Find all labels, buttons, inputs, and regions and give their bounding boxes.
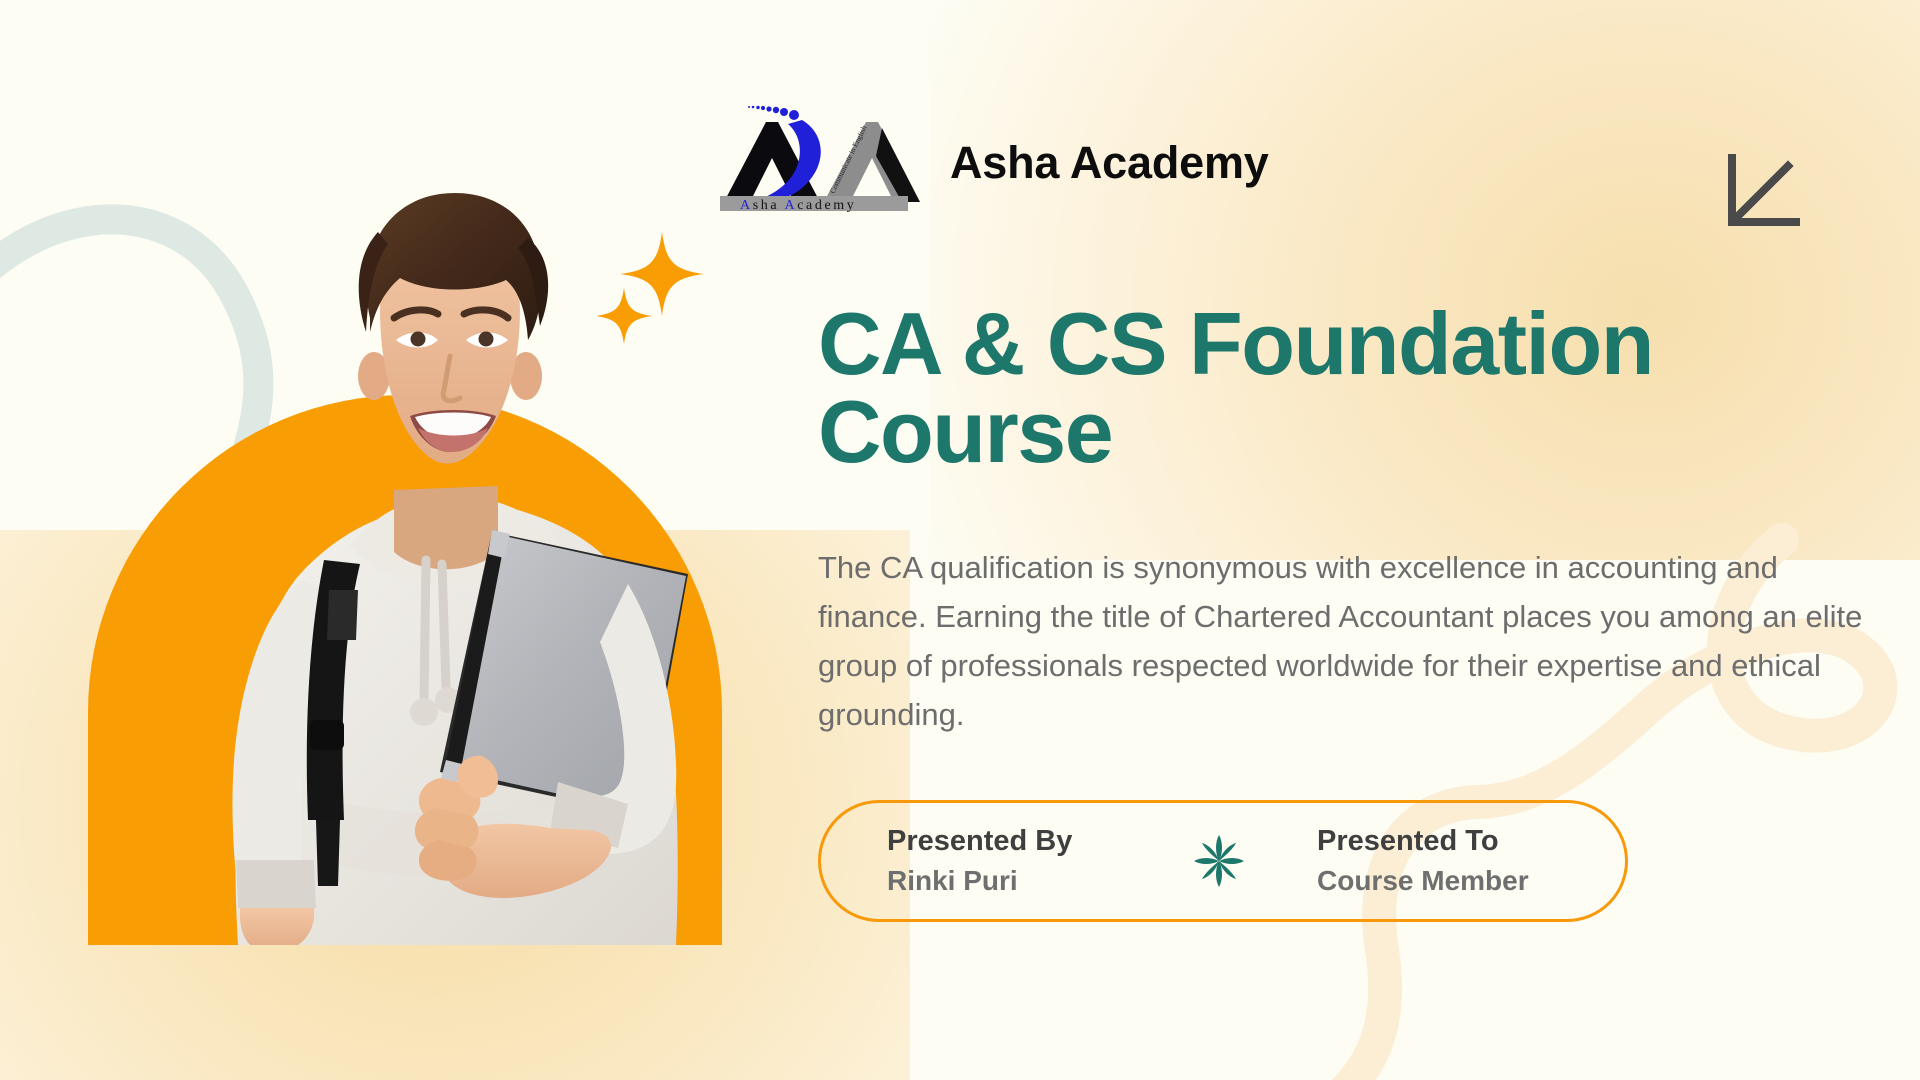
arrow-down-left-icon[interactable] [1724, 152, 1802, 230]
flower-asterisk-icon [1193, 832, 1245, 890]
page-title: CA & CS Foundation Course [818, 300, 1868, 476]
slide-canvas: Communicate in English Asha Academy Asha… [0, 0, 1920, 1080]
asha-academy-logo-icon: Communicate in English Asha Academy [716, 104, 928, 220]
hero-description: The CA qualification is synonymous with … [818, 544, 1868, 740]
presented-by-label: Presented By [887, 825, 1167, 858]
student-with-laptop-illustration [88, 160, 728, 945]
logo-wordmark-text: Asha Academy [740, 198, 856, 213]
hero-photo [88, 160, 728, 945]
presented-by-group: Presented By Rinki Puri [887, 825, 1167, 897]
presented-by-value: Rinki Puri [887, 865, 1167, 897]
presented-to-label: Presented To [1317, 825, 1625, 858]
presented-to-group: Presented To Course Member [1317, 825, 1625, 897]
brand-name: Asha Academy [950, 140, 1269, 185]
presented-to-value: Course Member [1317, 865, 1625, 897]
brand-header: Communicate in English Asha Academy Asha… [716, 104, 1269, 220]
presenter-pill: Presented By Rinki Puri Presented To Cou… [818, 800, 1628, 922]
hero-content: CA & CS Foundation Course The CA qualifi… [818, 300, 1868, 740]
